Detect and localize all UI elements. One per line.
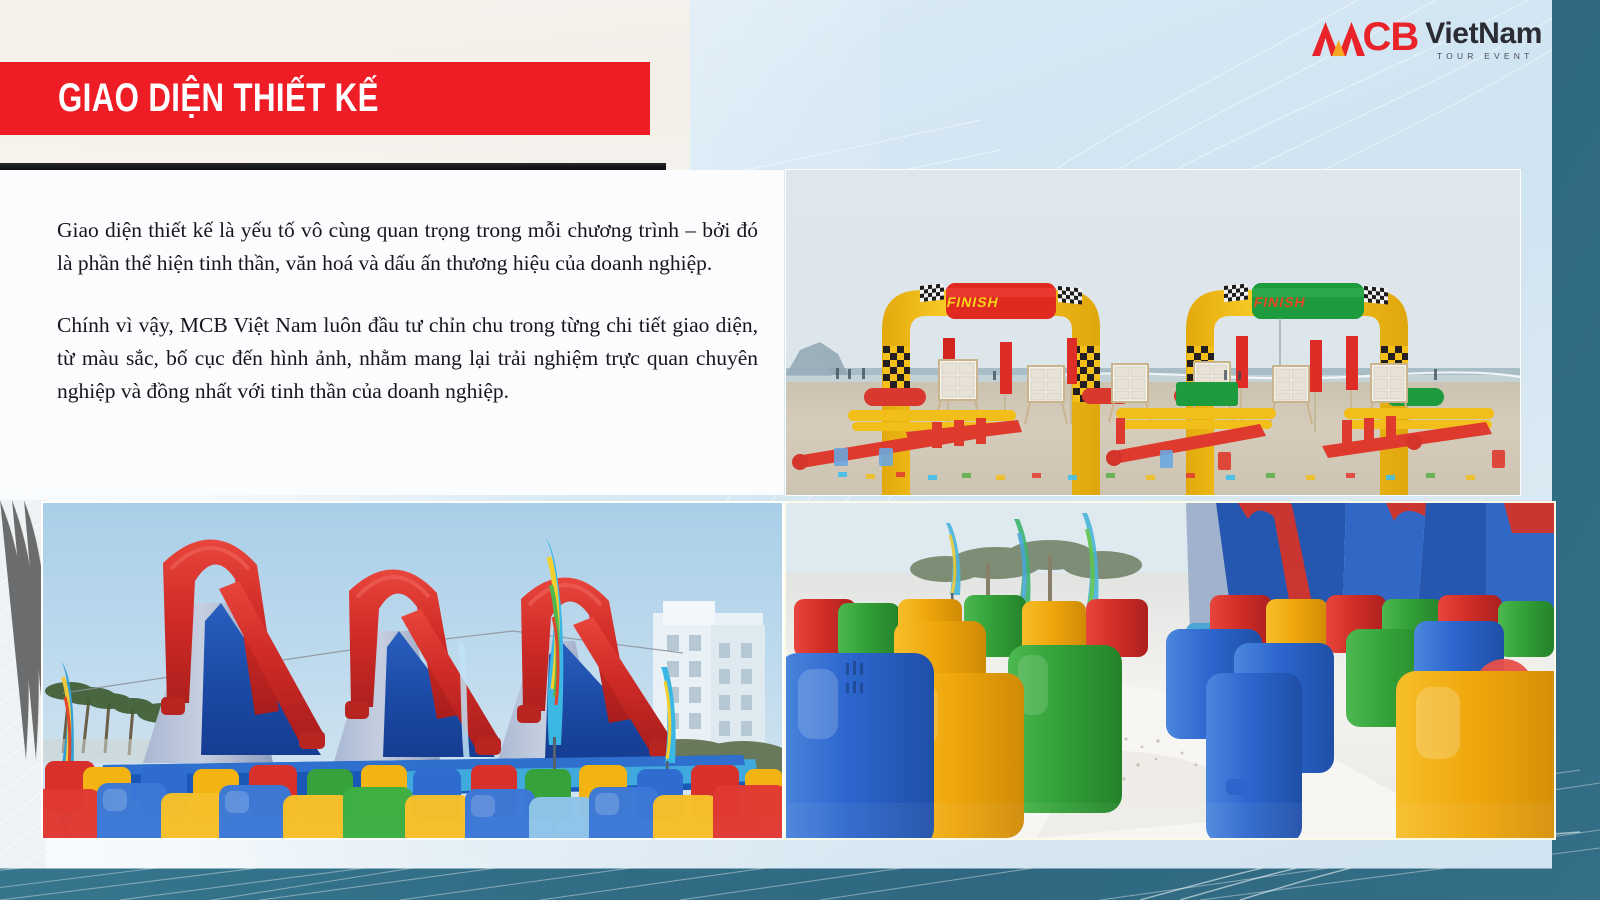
body-paragraph-1: Giao diện thiết kế là yếu tố vô cùng qua… <box>57 214 758 280</box>
body-paragraph-2: Chính vì vậy, MCB Việt Nam luôn đầu tư c… <box>57 309 758 408</box>
logo-cb-letters: CB <box>1363 18 1419 56</box>
background-left-texture <box>0 500 46 900</box>
photo-br-svg <box>786 503 1554 838</box>
body-text-panel: Giao diện thiết kế là yếu tố vô cùng qua… <box>0 170 784 495</box>
page-title-banner: GIAO DIỆN THIẾT KẾ <box>0 62 650 135</box>
svg-text:FINISH: FINISH <box>945 294 1000 310</box>
svg-text:FINISH: FINISH <box>1252 294 1307 310</box>
photo-bl-svg <box>43 503 782 838</box>
page-title: GIAO DIỆN THIẾT KẾ <box>58 76 379 121</box>
mcb-m-svg <box>1312 18 1365 56</box>
brand-logo[interactable]: CB VietNam TOUR EVENT <box>1312 16 1542 61</box>
logo-wordmark: VietNam TOUR EVENT <box>1425 16 1542 61</box>
beach-inflatable-finish-arches-photo[interactable]: FINISH <box>786 170 1520 495</box>
title-underline-rule <box>0 163 666 170</box>
photo-tr-svg: FINISH <box>786 170 1520 495</box>
inflatable-water-slides-photo[interactable] <box>43 503 782 838</box>
logo-tagline: TOUR EVENT <box>1425 51 1542 61</box>
logo-brand-name: VietNam <box>1425 18 1542 50</box>
colorful-beach-buckets-closeup-photo[interactable] <box>786 503 1554 838</box>
logo-mcb-mark: CB <box>1312 16 1419 58</box>
mcb-mountain-m-icon <box>1312 18 1365 56</box>
